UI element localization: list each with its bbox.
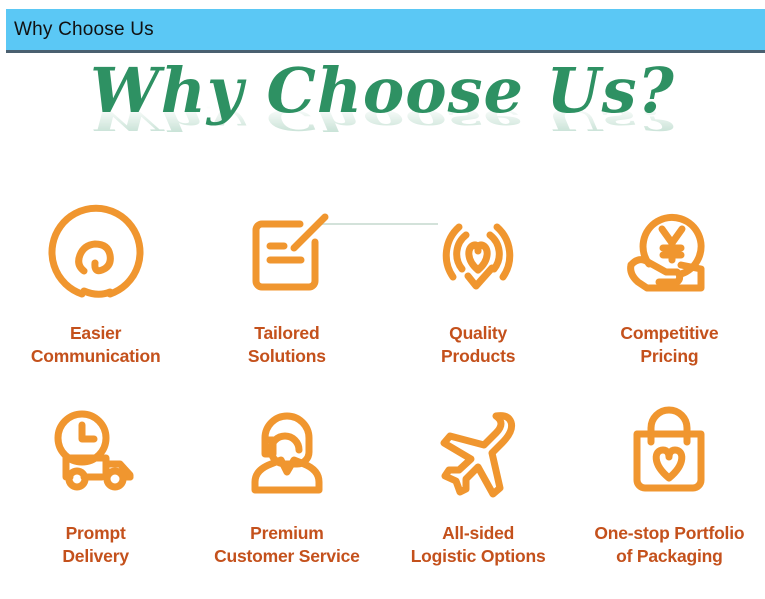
feature-item-prompt-delivery[interactable]: Prompt Delivery (0, 396, 191, 596)
feature-label-line1: All-sided (442, 523, 514, 543)
feature-label: Competitive Pricing (620, 322, 718, 368)
feature-item-all-sided-logistic-options[interactable]: All-sided Logistic Options (383, 396, 574, 596)
page-header-bar: Why Choose Us (6, 9, 765, 53)
feature-item-premium-customer-service[interactable]: Premium Customer Service (191, 396, 382, 596)
feature-label-line1: Tailored (254, 323, 319, 343)
feature-grid: Easier Communication Tailored Solutions (0, 196, 765, 596)
feature-label-line1: Easier (70, 323, 121, 343)
feature-label-line2: Logistic Options (411, 545, 546, 568)
feature-label-line1: Quality (449, 323, 507, 343)
feature-label-line2: Solutions (248, 345, 326, 368)
hero-title: Why Choose Us? (0, 60, 765, 122)
feature-label: Premium Customer Service (214, 522, 360, 568)
page-header-title: Why Choose Us (6, 19, 154, 41)
hand-yen-coin-icon (613, 196, 725, 308)
feature-label-line1: Prompt (66, 523, 126, 543)
feature-item-competitive-pricing[interactable]: Competitive Pricing (574, 196, 765, 396)
feature-label: Quality Products (441, 322, 515, 368)
feature-label-line2: Products (441, 345, 515, 368)
feature-label: Tailored Solutions (248, 322, 326, 368)
hero-banner: Why Choose Us? Why Choose Us? (0, 60, 765, 175)
airplane-icon (422, 396, 534, 508)
hero-title-text: Why Choose Us? (90, 60, 675, 122)
feature-item-tailored-solutions[interactable]: Tailored Solutions (191, 196, 382, 396)
feature-label-line1: Competitive (620, 323, 718, 343)
feature-label: Prompt Delivery (62, 522, 129, 568)
feature-item-quality-products[interactable]: Quality Products (383, 196, 574, 396)
ear-listening-icon (40, 196, 152, 308)
feature-label: All-sided Logistic Options (411, 522, 546, 568)
feature-label-line2: Customer Service (214, 545, 360, 568)
feature-label-line1: Premium (250, 523, 324, 543)
shopping-bag-heart-icon (613, 396, 725, 508)
feature-label-line1: One-stop Portfolio (594, 523, 744, 543)
headset-agent-icon (231, 396, 343, 508)
feature-label-line2: Communication (31, 345, 161, 368)
feature-label: Easier Communication (31, 322, 161, 368)
feature-item-one-stop-portfolio-of-packaging[interactable]: One-stop Portfolio of Packaging (574, 396, 765, 596)
feature-label-line2: Pricing (620, 345, 718, 368)
feature-label-line2: Delivery (62, 545, 129, 568)
heart-signal-check-icon (422, 196, 534, 308)
hero-title-reflection: Why Choose Us? (0, 134, 765, 196)
delivery-truck-clock-icon (40, 396, 152, 508)
feature-item-easier-communication[interactable]: Easier Communication (0, 196, 191, 396)
document-pencil-icon (231, 196, 343, 308)
feature-label-line2: of Packaging (594, 545, 744, 568)
feature-label: One-stop Portfolio of Packaging (594, 522, 744, 568)
